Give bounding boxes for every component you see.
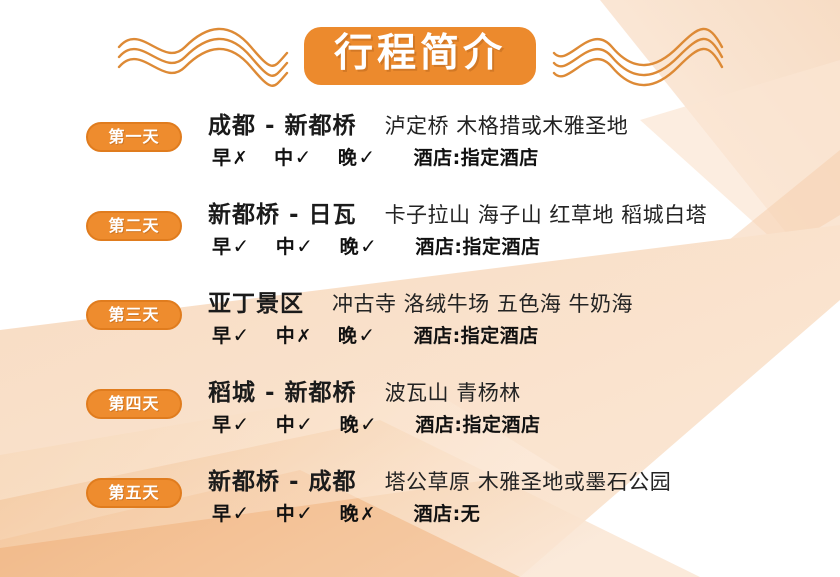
meal-lunch-mark: ✓ bbox=[295, 501, 313, 525]
wave-lines-right-icon bbox=[550, 23, 725, 89]
day-meals-line: 早✓ 中✗ 晚✓ 酒店:指定酒店 bbox=[208, 321, 633, 348]
day-hotel: 酒店:指定酒店 bbox=[414, 321, 539, 348]
day-spots: 波瓦山 青杨林 bbox=[385, 377, 521, 407]
day-spots: 卡子拉山 海子山 红草地 稻城白塔 bbox=[385, 199, 708, 229]
meal-dinner: 晚✓ bbox=[338, 143, 376, 170]
meal-breakfast-mark: ✓ bbox=[232, 501, 250, 525]
meal-dinner-mark: ✓ bbox=[359, 412, 377, 436]
day-route: 亚丁景区 bbox=[208, 284, 304, 318]
meal-breakfast-label: 早 bbox=[212, 147, 232, 169]
day-route: 新都桥 - 日瓦 bbox=[208, 195, 357, 229]
day-hotel: 酒店:指定酒店 bbox=[415, 232, 540, 259]
meal-dinner: 晚✓ bbox=[340, 410, 378, 437]
meal-breakfast-mark: ✗ bbox=[232, 148, 249, 169]
day-content: 成都 - 新都桥 泸定桥 木格措或木雅圣地 早✗ 中✓ 晚✓ 酒店:指定酒店 bbox=[208, 100, 628, 170]
meal-breakfast-label: 早 bbox=[212, 236, 232, 258]
meal-dinner-mark: ✓ bbox=[357, 323, 375, 347]
meal-dinner-label: 晚 bbox=[340, 236, 360, 258]
meal-breakfast: 早✓ bbox=[212, 410, 250, 437]
meal-lunch: 中✓ bbox=[274, 143, 312, 170]
meal-dinner: 晚✓ bbox=[338, 321, 376, 348]
day-badge-1[interactable]: 第一天 bbox=[86, 122, 182, 152]
day-row: 第四天 稻城 - 新都桥 波瓦山 青杨林 早✓ 中✓ 晚✓ 酒店:指定酒店 bbox=[0, 367, 840, 456]
day-badge-4[interactable]: 第四天 bbox=[86, 389, 182, 419]
meal-dinner-mark: ✓ bbox=[359, 234, 377, 258]
title-pill: 行程简介 bbox=[304, 27, 536, 86]
meal-breakfast: 早✓ bbox=[212, 232, 250, 259]
meal-breakfast-label: 早 bbox=[212, 325, 232, 347]
day-badge-label: 第一天 bbox=[108, 129, 159, 145]
meal-breakfast-mark: ✓ bbox=[232, 234, 250, 258]
day-badge-label: 第二天 bbox=[108, 218, 159, 234]
meal-breakfast-mark: ✓ bbox=[232, 412, 250, 436]
meal-lunch: 中✓ bbox=[276, 410, 314, 437]
meal-breakfast: 早✓ bbox=[212, 321, 250, 348]
day-badge-3[interactable]: 第三天 bbox=[86, 300, 182, 330]
day-row: 第五天 新都桥 - 成都 塔公草原 木雅圣地或墨石公园 早✓ 中✓ 晚✗ 酒店:… bbox=[0, 456, 840, 545]
meal-dinner: 晚✓ bbox=[340, 232, 378, 259]
meal-dinner-label: 晚 bbox=[340, 503, 360, 525]
day-hotel: 酒店:指定酒店 bbox=[414, 143, 539, 170]
meal-breakfast: 早✓ bbox=[212, 499, 250, 526]
day-badge-label: 第四天 bbox=[108, 396, 159, 412]
meal-lunch-mark: ✗ bbox=[295, 326, 312, 347]
meal-dinner-label: 晚 bbox=[340, 414, 360, 436]
meal-lunch-mark: ✓ bbox=[294, 145, 312, 169]
day-route-line: 新都桥 - 日瓦 卡子拉山 海子山 红草地 稻城白塔 bbox=[208, 195, 707, 229]
meal-lunch-label: 中 bbox=[276, 503, 296, 525]
day-route-line: 新都桥 - 成都 塔公草原 木雅圣地或墨石公园 bbox=[208, 462, 671, 496]
day-content: 亚丁景区 冲古寺 洛绒牛场 五色海 牛奶海 早✓ 中✗ 晚✓ 酒店:指定酒店 bbox=[208, 278, 633, 348]
day-hotel: 酒店:无 bbox=[414, 499, 481, 526]
meal-breakfast-label: 早 bbox=[212, 503, 232, 525]
meal-dinner-mark: ✓ bbox=[357, 145, 375, 169]
meal-lunch-label: 中 bbox=[274, 147, 294, 169]
day-route-line: 稻城 - 新都桥 波瓦山 青杨林 bbox=[208, 373, 540, 407]
meal-dinner-mark: ✗ bbox=[359, 504, 376, 525]
itinerary-poster: 行程简介 第一天 成都 - 新都桥 泸定桥 木格措或木雅圣地 早✗ bbox=[0, 0, 840, 577]
meal-lunch-label: 中 bbox=[276, 414, 296, 436]
day-spots: 泸定桥 木格措或木雅圣地 bbox=[385, 110, 629, 140]
page-title: 行程简介 bbox=[334, 34, 506, 75]
day-hotel: 酒店:指定酒店 bbox=[415, 410, 540, 437]
day-route: 新都桥 - 成都 bbox=[208, 462, 357, 496]
day-meals-line: 早✓ 中✓ 晚✓ 酒店:指定酒店 bbox=[208, 410, 540, 437]
itinerary-list: 第一天 成都 - 新都桥 泸定桥 木格措或木雅圣地 早✗ 中✓ 晚✓ 酒店:指定… bbox=[0, 100, 840, 545]
day-route-line: 亚丁景区 冲古寺 洛绒牛场 五色海 牛奶海 bbox=[208, 284, 633, 318]
meal-dinner: 晚✗ bbox=[340, 499, 376, 526]
meal-dinner-label: 晚 bbox=[338, 147, 358, 169]
meal-lunch-label: 中 bbox=[276, 325, 296, 347]
day-row: 第一天 成都 - 新都桥 泸定桥 木格措或木雅圣地 早✗ 中✓ 晚✓ 酒店:指定… bbox=[0, 100, 840, 189]
day-badge-5[interactable]: 第五天 bbox=[86, 478, 182, 508]
day-meals-line: 早✓ 中✓ 晚✓ 酒店:指定酒店 bbox=[208, 232, 707, 259]
meal-lunch-mark: ✓ bbox=[295, 234, 313, 258]
day-row: 第二天 新都桥 - 日瓦 卡子拉山 海子山 红草地 稻城白塔 早✓ 中✓ 晚✓ … bbox=[0, 189, 840, 278]
day-spots: 塔公草原 木雅圣地或墨石公园 bbox=[385, 466, 672, 496]
meal-breakfast-label: 早 bbox=[212, 414, 232, 436]
meal-lunch: 中✓ bbox=[276, 232, 314, 259]
meal-breakfast-mark: ✓ bbox=[232, 323, 250, 347]
meal-lunch-label: 中 bbox=[276, 236, 296, 258]
meal-lunch: 中✓ bbox=[276, 499, 314, 526]
day-meals-line: 早✗ 中✓ 晚✓ 酒店:指定酒店 bbox=[208, 143, 628, 170]
meal-lunch: 中✗ bbox=[276, 321, 312, 348]
day-spots: 冲古寺 洛绒牛场 五色海 牛奶海 bbox=[332, 288, 633, 318]
day-badge-2[interactable]: 第二天 bbox=[86, 211, 182, 241]
header: 行程简介 bbox=[0, 16, 840, 96]
day-badge-label: 第三天 bbox=[108, 307, 159, 323]
day-route-line: 成都 - 新都桥 泸定桥 木格措或木雅圣地 bbox=[208, 106, 628, 140]
day-content: 新都桥 - 成都 塔公草原 木雅圣地或墨石公园 早✓ 中✓ 晚✗ 酒店:无 bbox=[208, 456, 671, 526]
meal-lunch-mark: ✓ bbox=[295, 412, 313, 436]
day-meals-line: 早✓ 中✓ 晚✗ 酒店:无 bbox=[208, 499, 671, 526]
day-route: 稻城 - 新都桥 bbox=[208, 373, 357, 407]
day-route: 成都 - 新都桥 bbox=[208, 106, 357, 140]
wave-lines-left-icon bbox=[115, 23, 290, 89]
meal-dinner-label: 晚 bbox=[338, 325, 358, 347]
day-content: 稻城 - 新都桥 波瓦山 青杨林 早✓ 中✓ 晚✓ 酒店:指定酒店 bbox=[208, 367, 540, 437]
day-badge-label: 第五天 bbox=[108, 485, 159, 501]
day-content: 新都桥 - 日瓦 卡子拉山 海子山 红草地 稻城白塔 早✓ 中✓ 晚✓ 酒店:指… bbox=[208, 189, 707, 259]
meal-breakfast: 早✗ bbox=[212, 143, 248, 170]
day-row: 第三天 亚丁景区 冲古寺 洛绒牛场 五色海 牛奶海 早✓ 中✗ 晚✓ 酒店:指定… bbox=[0, 278, 840, 367]
